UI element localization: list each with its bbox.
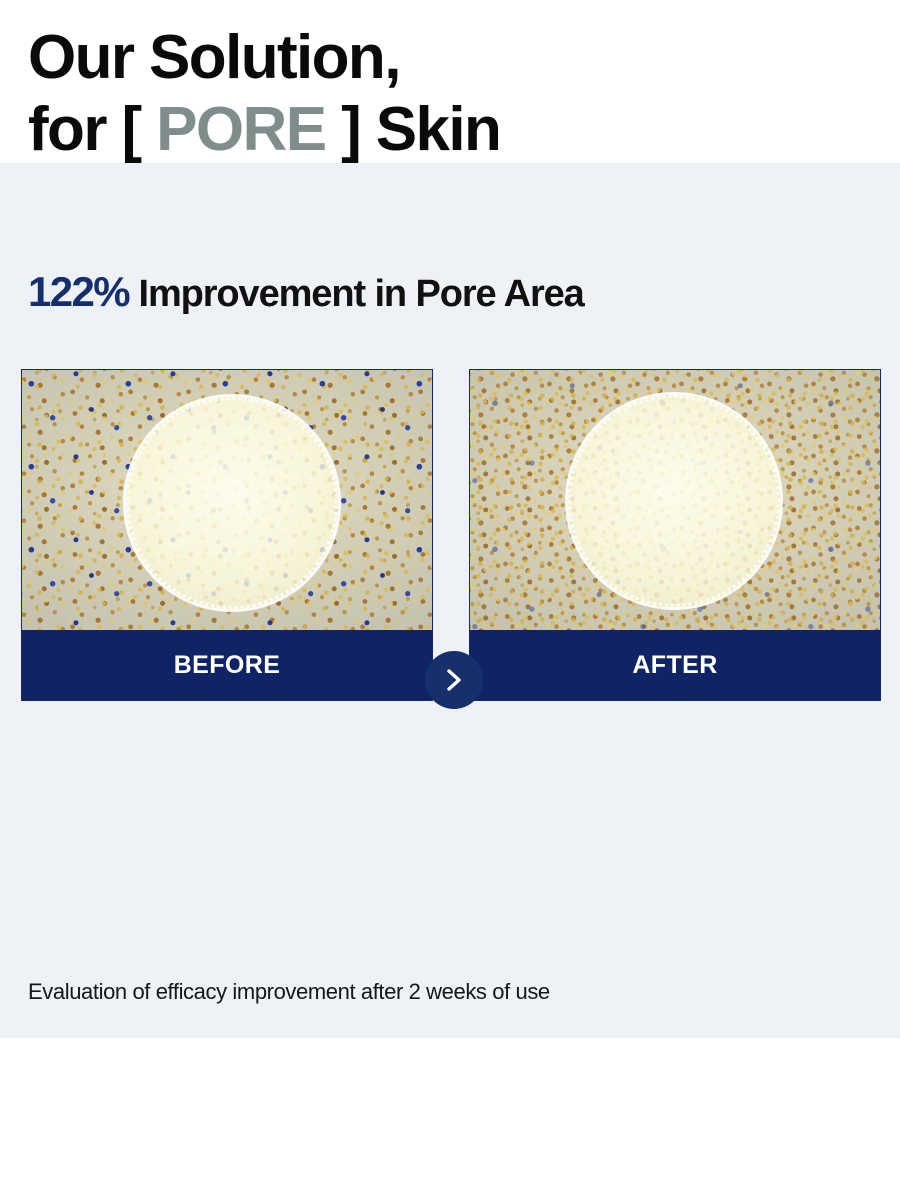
headline-highlight-pore: PORE (156, 95, 325, 164)
after-measurement-zone (568, 395, 780, 607)
after-label: AFTER (470, 630, 880, 700)
stat-percent: 122% (28, 268, 129, 315)
after-panel: AFTER (469, 369, 881, 701)
headline-line-1: Our Solution, (28, 23, 400, 92)
zone-dotted-outline (568, 395, 780, 607)
page-title: Our Solution, for [ PORE ] Skin (28, 22, 868, 166)
zone-dotted-outline (126, 397, 338, 609)
promo-slide: Our Solution, for [ PORE ] Skin 122% Imp… (0, 0, 900, 1200)
headline-line-2-prefix: for [ (28, 95, 156, 164)
headline-line-2-suffix: ] Skin (325, 95, 500, 164)
after-skin-image (470, 370, 880, 632)
before-panel: BEFORE (21, 369, 433, 701)
before-measurement-zone (126, 397, 338, 609)
before-label: BEFORE (22, 630, 432, 700)
before-skin-image (22, 370, 432, 632)
stat-label: Improvement in Pore Area (129, 273, 584, 315)
stat-headline: 122% Improvement in Pore Area (28, 270, 878, 316)
footnote-text: Evaluation of efficacy improvement after… (28, 979, 550, 1005)
chevron-right-icon (425, 651, 483, 709)
